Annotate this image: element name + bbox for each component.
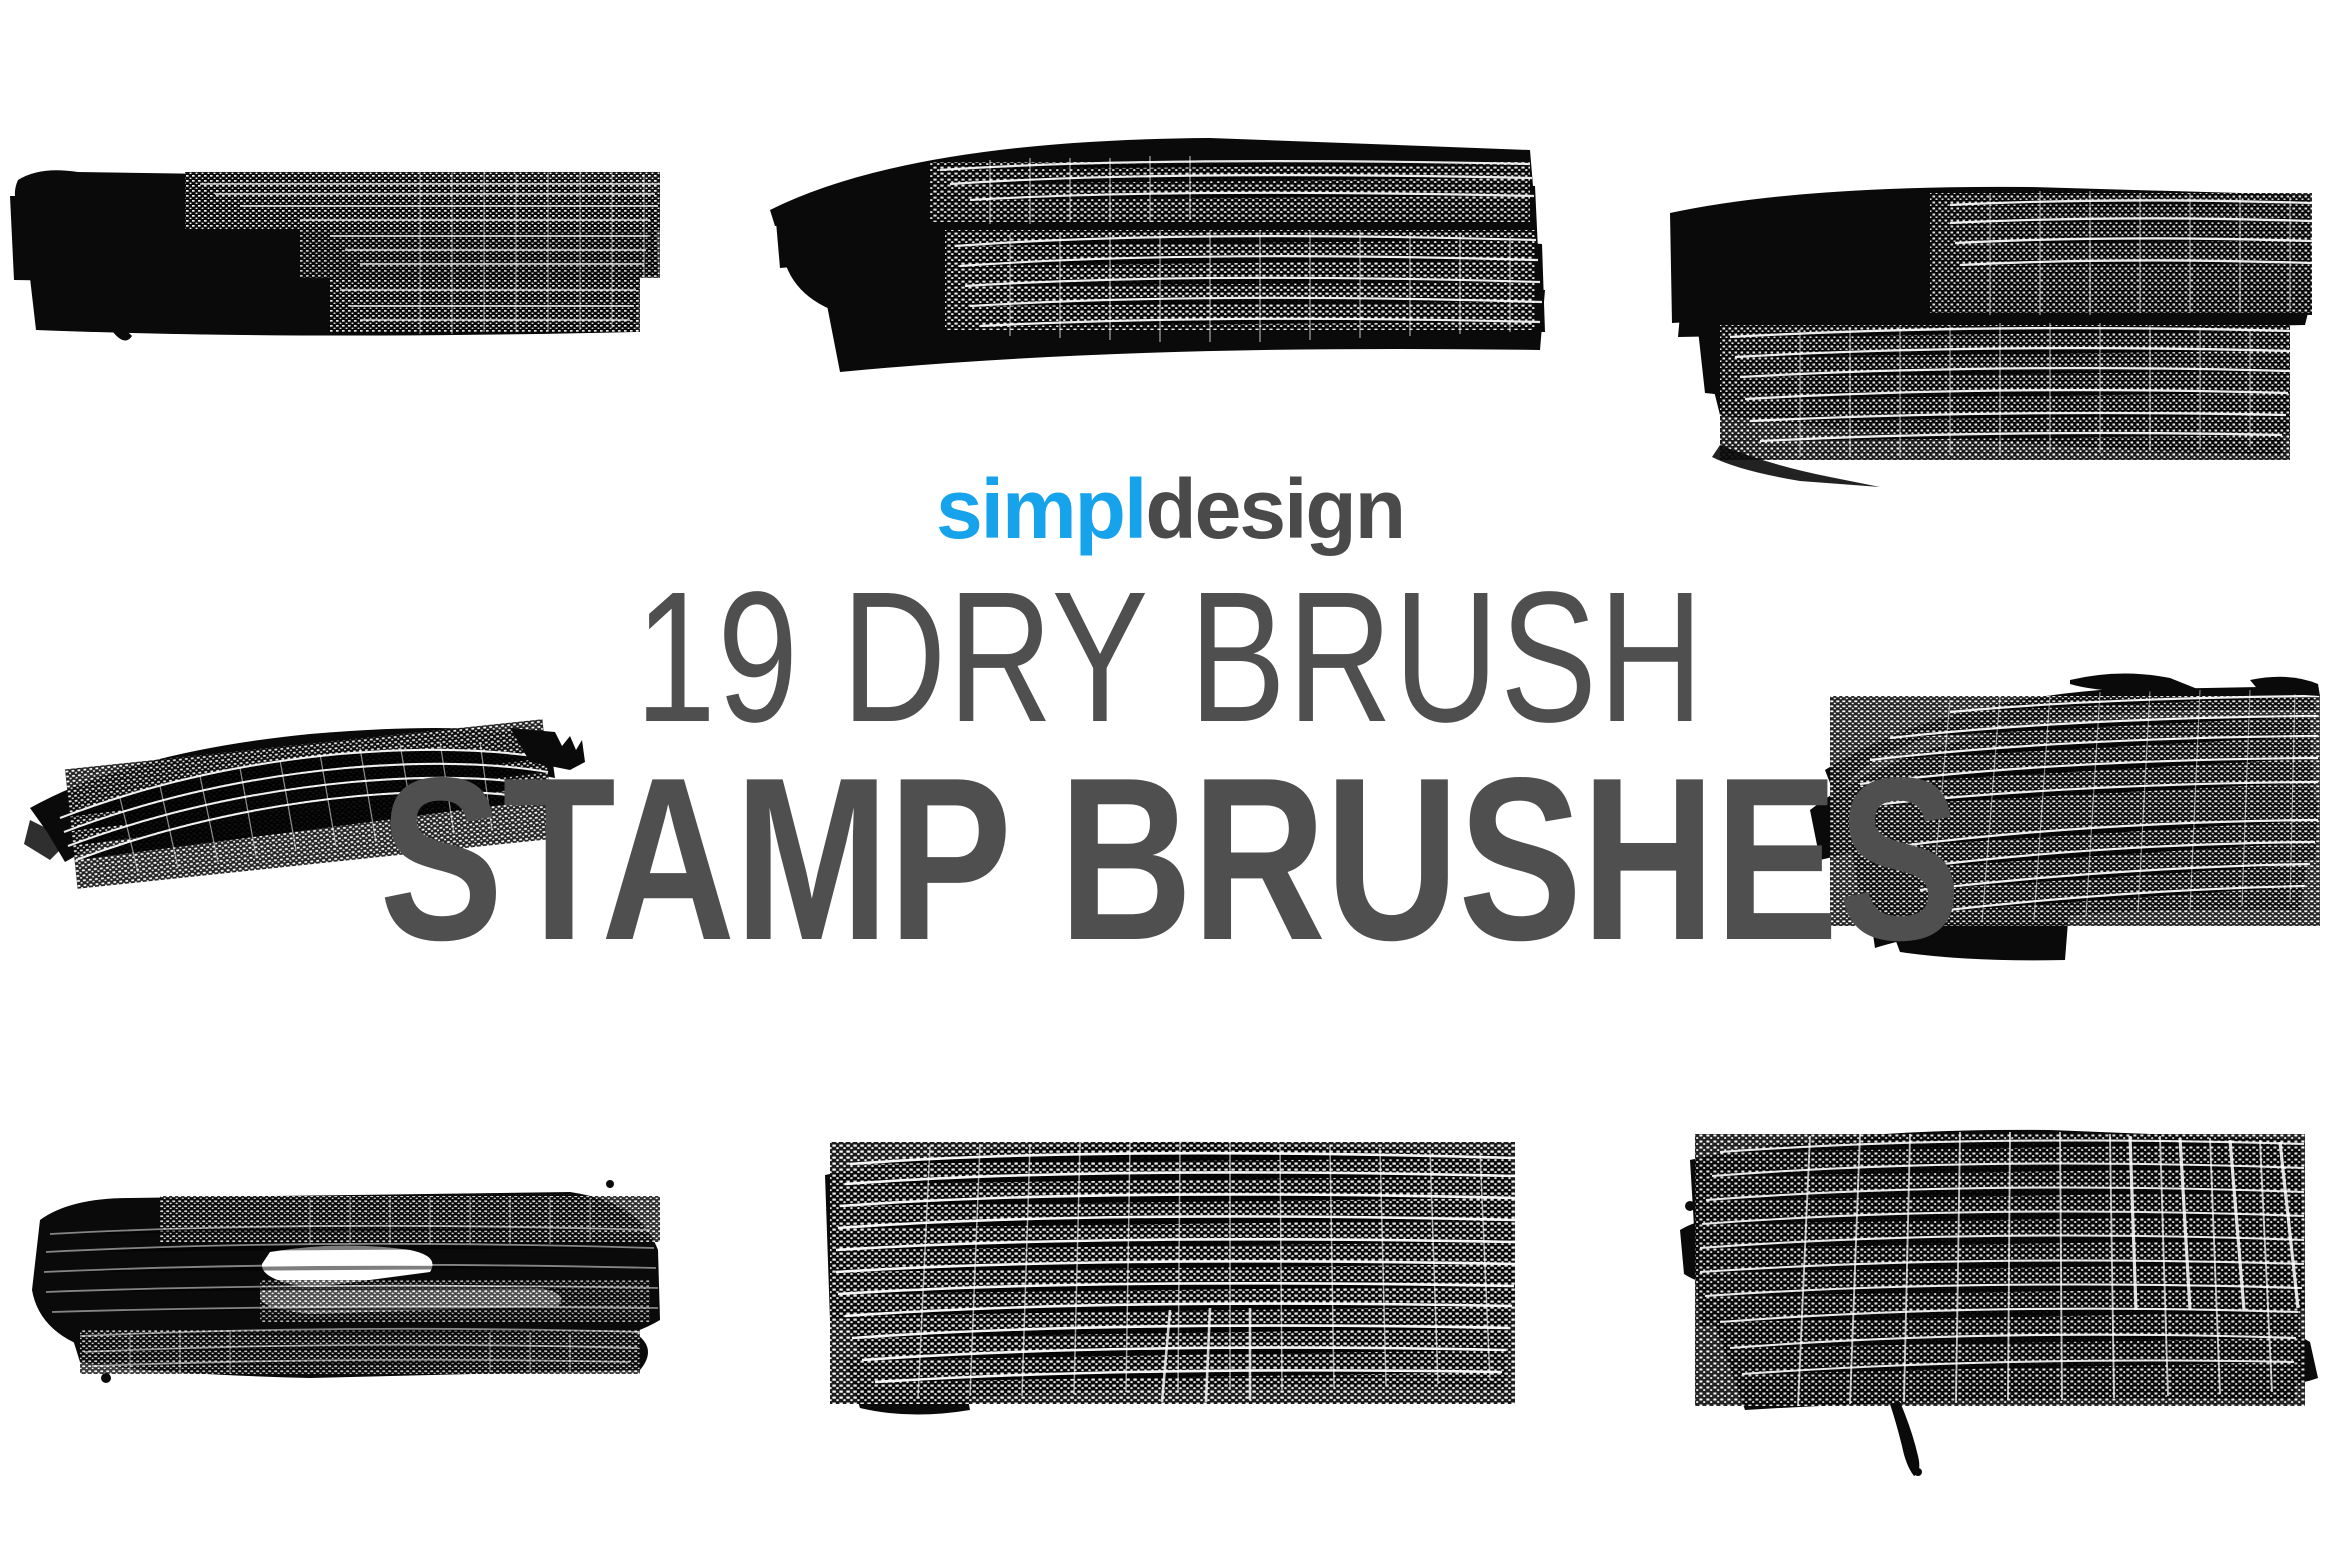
- bottom-right-stroke: [1650, 1110, 2340, 1480]
- poster-canvas: simpldesign 19 DRY BRUSH STAMP BRUSHES: [0, 0, 2340, 1560]
- headline-line-1: 19 DRY BRUSH: [257, 572, 2082, 743]
- poster-text-block: simpldesign 19 DRY BRUSH STAMP BRUSHES: [0, 470, 2340, 966]
- bottom-left-stroke: [10, 1140, 710, 1440]
- top-center-stroke: [730, 100, 1570, 400]
- top-right-stroke: [1650, 165, 2340, 495]
- logo-primary-text: simpl: [936, 462, 1145, 556]
- headline-line-2: STAMP BRUSHES: [234, 753, 2106, 966]
- bottom-center-stroke: [790, 1120, 1550, 1460]
- logo-secondary-text: design: [1145, 462, 1404, 556]
- top-left-stroke: [0, 150, 700, 350]
- brand-logo: simpldesign: [0, 470, 2340, 550]
